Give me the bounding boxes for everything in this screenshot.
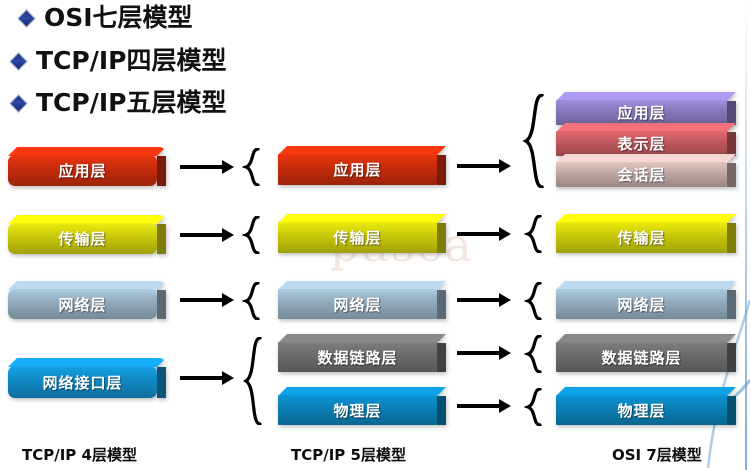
arrow-application-4to5 xyxy=(180,160,234,174)
diamond-bullet-icon xyxy=(12,55,25,68)
box-label: 网络层 xyxy=(333,294,381,315)
box-front-face: 数据链路层 xyxy=(278,342,437,372)
box-osi7-session[interactable]: 会话层 xyxy=(556,154,736,187)
box-side-face xyxy=(727,290,736,319)
box-side-face xyxy=(437,343,446,372)
box-side-face xyxy=(437,223,446,253)
box-tcpip4-network[interactable]: 网络层 xyxy=(8,281,166,319)
box-front-face: 应用层 xyxy=(556,100,727,125)
brace-network-col3 xyxy=(524,282,544,320)
box-front-face: 物理层 xyxy=(278,395,437,425)
arrow-transport-5to7 xyxy=(457,227,511,241)
box-side-face xyxy=(727,223,736,253)
brace-physical-col3 xyxy=(524,388,544,426)
box-tcpip4-network-interface[interactable]: 网络接口层 xyxy=(8,358,166,398)
box-front-face: 传输层 xyxy=(8,223,157,254)
box-tcpip4-transport[interactable]: 传输层 xyxy=(8,215,166,254)
box-front-face: 数据链路层 xyxy=(556,342,727,372)
box-side-face xyxy=(157,367,166,398)
brace-link-physical-col2 xyxy=(242,337,264,425)
box-side-face xyxy=(727,101,736,125)
box-label: 网络层 xyxy=(617,294,665,315)
brace-transport-col2 xyxy=(242,216,262,254)
brace-transport-col3 xyxy=(524,215,544,253)
brace-application-col2 xyxy=(242,148,262,186)
heading-text: TCP/IP四层模型 xyxy=(36,48,226,73)
box-osi7-presentation[interactable]: 表示层 xyxy=(556,123,736,156)
box-front-face: 应用层 xyxy=(278,154,437,185)
box-osi7-data-link[interactable]: 数据链路层 xyxy=(556,334,736,372)
heading-osi-seven-layer: OSI七层模型 xyxy=(20,5,193,30)
box-side-face xyxy=(157,290,166,319)
box-front-face: 传输层 xyxy=(556,222,727,253)
box-label: 应用层 xyxy=(333,159,381,180)
box-osi7-application[interactable]: 应用层 xyxy=(556,92,736,125)
box-tcpip5-network[interactable]: 网络层 xyxy=(278,281,446,319)
box-label: 会话层 xyxy=(617,164,665,185)
box-label: 网络层 xyxy=(58,294,106,315)
box-front-face: 网络层 xyxy=(8,289,157,319)
box-tcpip5-transport[interactable]: 传输层 xyxy=(278,214,446,253)
box-osi7-network[interactable]: 网络层 xyxy=(556,281,736,319)
box-front-face: 会话层 xyxy=(556,162,727,187)
arrow-network-4to5 xyxy=(180,293,234,307)
decorative-swoosh xyxy=(706,300,750,470)
slide-canvas: OSI七层模型 TCP/IP四层模型 TCP/IP五层模型 pasca 应用层 … xyxy=(0,0,750,470)
caption-tcpip5: TCP/IP 5层模型 xyxy=(291,444,406,465)
diamond-bullet-icon xyxy=(20,12,33,25)
box-label: 物理层 xyxy=(333,400,381,421)
heading-text: OSI七层模型 xyxy=(44,5,193,30)
brace-data-link-col3 xyxy=(524,335,544,373)
diamond-bullet-icon xyxy=(12,97,25,110)
arrow-physical-5to7 xyxy=(457,399,511,413)
box-label: 网络接口层 xyxy=(42,372,122,393)
box-tcpip4-application[interactable]: 应用层 xyxy=(8,147,166,186)
box-tcpip5-physical[interactable]: 物理层 xyxy=(278,387,446,425)
box-side-face xyxy=(157,224,166,254)
box-side-face xyxy=(437,155,446,185)
brace-network-col2 xyxy=(242,282,262,320)
caption-osi7: OSI 7层模型 xyxy=(612,444,702,465)
box-label: 数据链路层 xyxy=(601,347,681,368)
arrow-network-5to7 xyxy=(457,293,511,307)
box-front-face: 网络层 xyxy=(556,289,727,319)
box-label: 传输层 xyxy=(333,227,381,248)
box-label: 传输层 xyxy=(617,227,665,248)
box-tcpip5-data-link[interactable]: 数据链路层 xyxy=(278,334,446,372)
brace-upper-three-col3 xyxy=(522,94,546,188)
box-front-face: 表示层 xyxy=(556,131,727,156)
box-front-face: 网络层 xyxy=(278,289,437,319)
box-label: 物理层 xyxy=(617,400,665,421)
box-side-face xyxy=(437,396,446,425)
box-side-face xyxy=(727,343,736,372)
heading-tcpip-four-layer: TCP/IP四层模型 xyxy=(12,48,226,73)
box-osi7-transport[interactable]: 传输层 xyxy=(556,214,736,253)
caption-tcpip4: TCP/IP 4层模型 xyxy=(22,444,137,465)
box-side-face xyxy=(157,156,166,186)
arrow-network-interface-4to5 xyxy=(180,371,234,385)
box-label: 表示层 xyxy=(617,133,665,154)
arrow-transport-4to5 xyxy=(180,228,234,242)
box-tcpip5-application[interactable]: 应用层 xyxy=(278,146,446,185)
box-label: 数据链路层 xyxy=(317,347,397,368)
decorative-edge-line xyxy=(745,0,747,470)
arrow-application-5to7 xyxy=(457,159,511,173)
box-front-face: 网络接口层 xyxy=(8,366,157,398)
box-side-face xyxy=(727,396,736,425)
box-front-face: 应用层 xyxy=(8,155,157,186)
box-front-face: 传输层 xyxy=(278,222,437,253)
box-osi7-physical[interactable]: 物理层 xyxy=(556,387,736,425)
box-front-face: 物理层 xyxy=(556,395,727,425)
box-side-face xyxy=(437,290,446,319)
box-label: 应用层 xyxy=(58,160,106,181)
box-side-face xyxy=(727,132,736,156)
box-label: 应用层 xyxy=(617,102,665,123)
arrow-data-link-5to7 xyxy=(457,346,511,360)
heading-text: TCP/IP五层模型 xyxy=(36,90,226,115)
heading-tcpip-five-layer: TCP/IP五层模型 xyxy=(12,90,226,115)
box-label: 传输层 xyxy=(58,228,106,249)
box-side-face xyxy=(727,163,736,187)
